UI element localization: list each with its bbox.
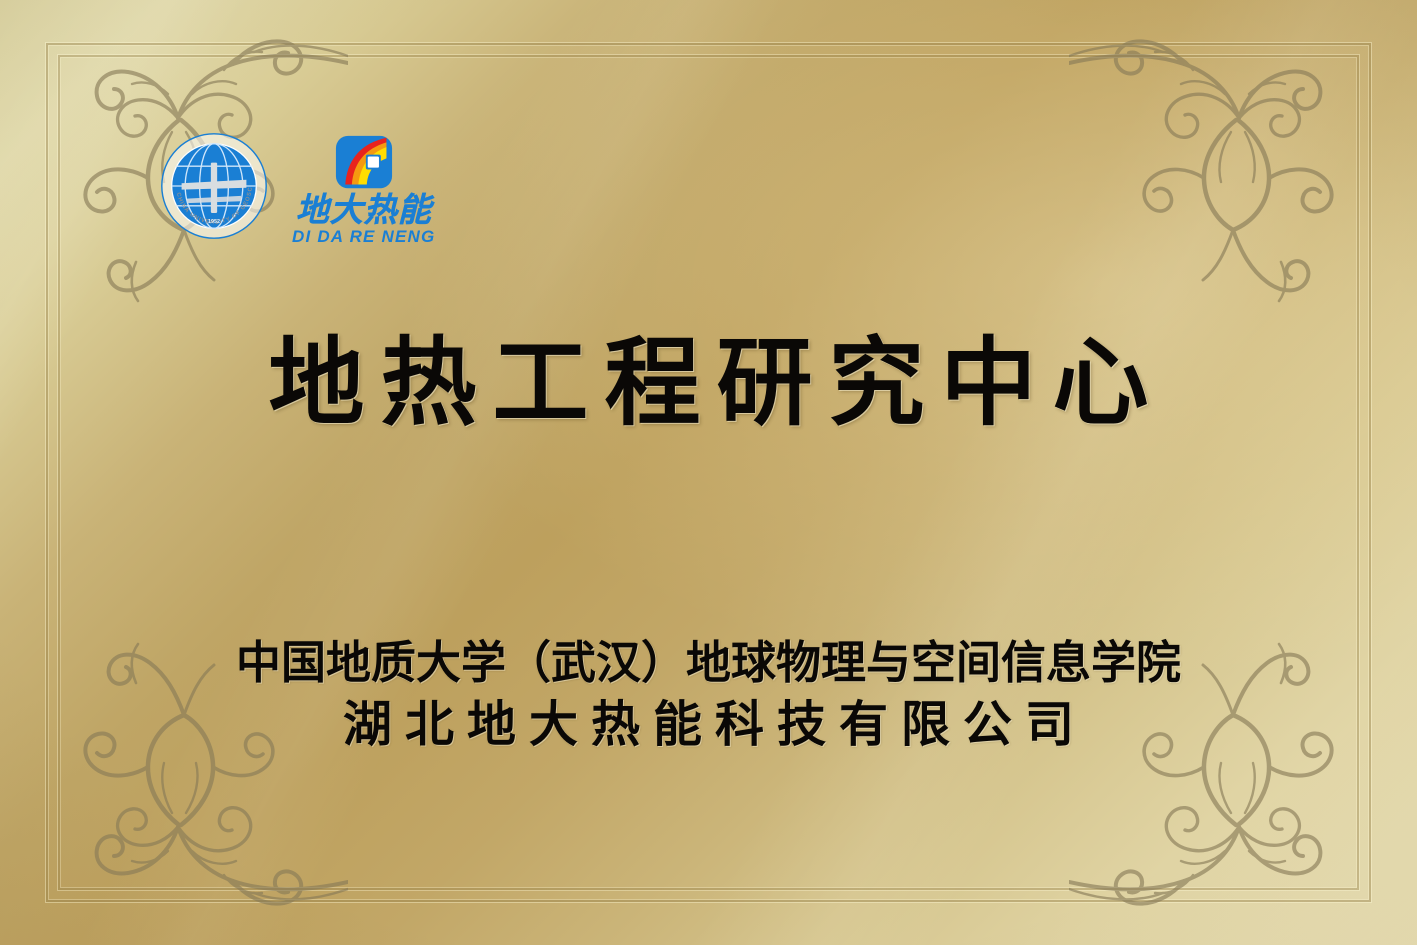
subtitle-company: 湖北地大热能科技有限公司 <box>0 696 1417 755</box>
didareneng-rainbow-mark-icon <box>334 134 394 192</box>
company-name-cn: 地大热能 <box>296 193 432 226</box>
corner-flourish-top-right-icon <box>1069 8 1399 308</box>
svg-text:1952: 1952 <box>208 219 220 225</box>
company-logo: 地大热能 DI DA RE NENG <box>292 134 435 247</box>
gold-plaque: 中国地质大学 CHINA UNIVERSITY OF GEOSCIENCES 1… <box>0 0 1417 945</box>
china-university-of-geosciences-seal-icon: 中国地质大学 CHINA UNIVERSITY OF GEOSCIENCES 1… <box>160 132 268 240</box>
logo-row: 中国地质大学 CHINA UNIVERSITY OF GEOSCIENCES 1… <box>160 132 435 247</box>
page-title: 地热工程研究中心 <box>0 330 1417 438</box>
subtitle-block: 中国地质大学（武汉）地球物理与空间信息学院 湖北地大热能科技有限公司 <box>0 636 1417 755</box>
company-name-pinyin: DI DA RE NENG <box>292 227 435 247</box>
subtitle-institute: 中国地质大学（武汉）地球物理与空间信息学院 <box>0 636 1417 689</box>
